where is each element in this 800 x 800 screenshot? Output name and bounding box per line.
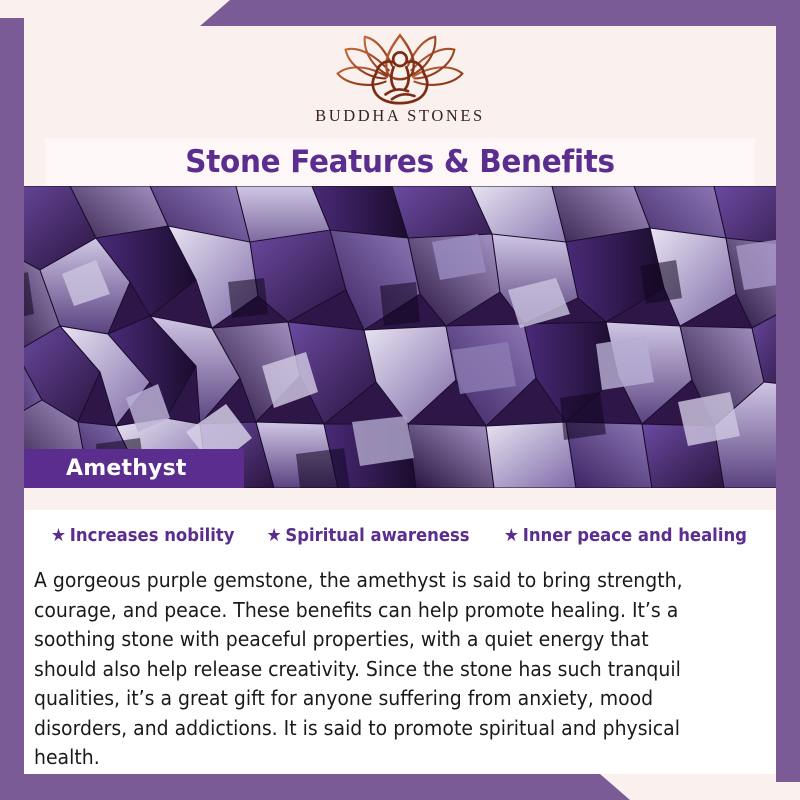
page-title: Stone Features & Benefits xyxy=(185,144,615,180)
brand-wordmark: BUDDHA STONES xyxy=(315,106,485,126)
content-panel: ★ Increases nobility ★ Spiritual awarene… xyxy=(24,488,776,774)
stone-description: A gorgeous purple gemstone, the amethyst… xyxy=(34,566,711,773)
frame-band-right xyxy=(776,0,800,782)
frame-band-left xyxy=(0,18,24,800)
panel-top-strip xyxy=(24,488,776,510)
star-icon: ★ xyxy=(51,527,66,545)
star-icon: ★ xyxy=(504,527,519,545)
benefit-item-1: ★ Spiritual awareness xyxy=(267,526,470,546)
star-icon: ★ xyxy=(267,527,282,545)
page-title-bar: Stone Features & Benefits xyxy=(45,138,755,186)
frame-band-bottom xyxy=(0,774,800,800)
stone-name-label: Amethyst xyxy=(66,456,187,481)
benefits-list: ★ Increases nobility ★ Spiritual awarene… xyxy=(24,526,776,546)
amethyst-crystal-cluster-photo xyxy=(0,186,800,488)
benefit-label: Spiritual awareness xyxy=(286,526,470,546)
frame-band-top xyxy=(0,0,800,26)
stone-name-banner: Amethyst xyxy=(24,449,244,488)
benefit-label: Increases nobility xyxy=(70,526,235,546)
benefit-item-0: ★ Increases nobility xyxy=(51,526,235,546)
lotus-meditation-figure-icon xyxy=(320,32,480,110)
brand-header: BUDDHA STONES xyxy=(24,26,776,138)
benefit-item-2: ★ Inner peace and healing xyxy=(504,526,747,546)
benefit-label: Inner peace and healing xyxy=(523,526,747,546)
